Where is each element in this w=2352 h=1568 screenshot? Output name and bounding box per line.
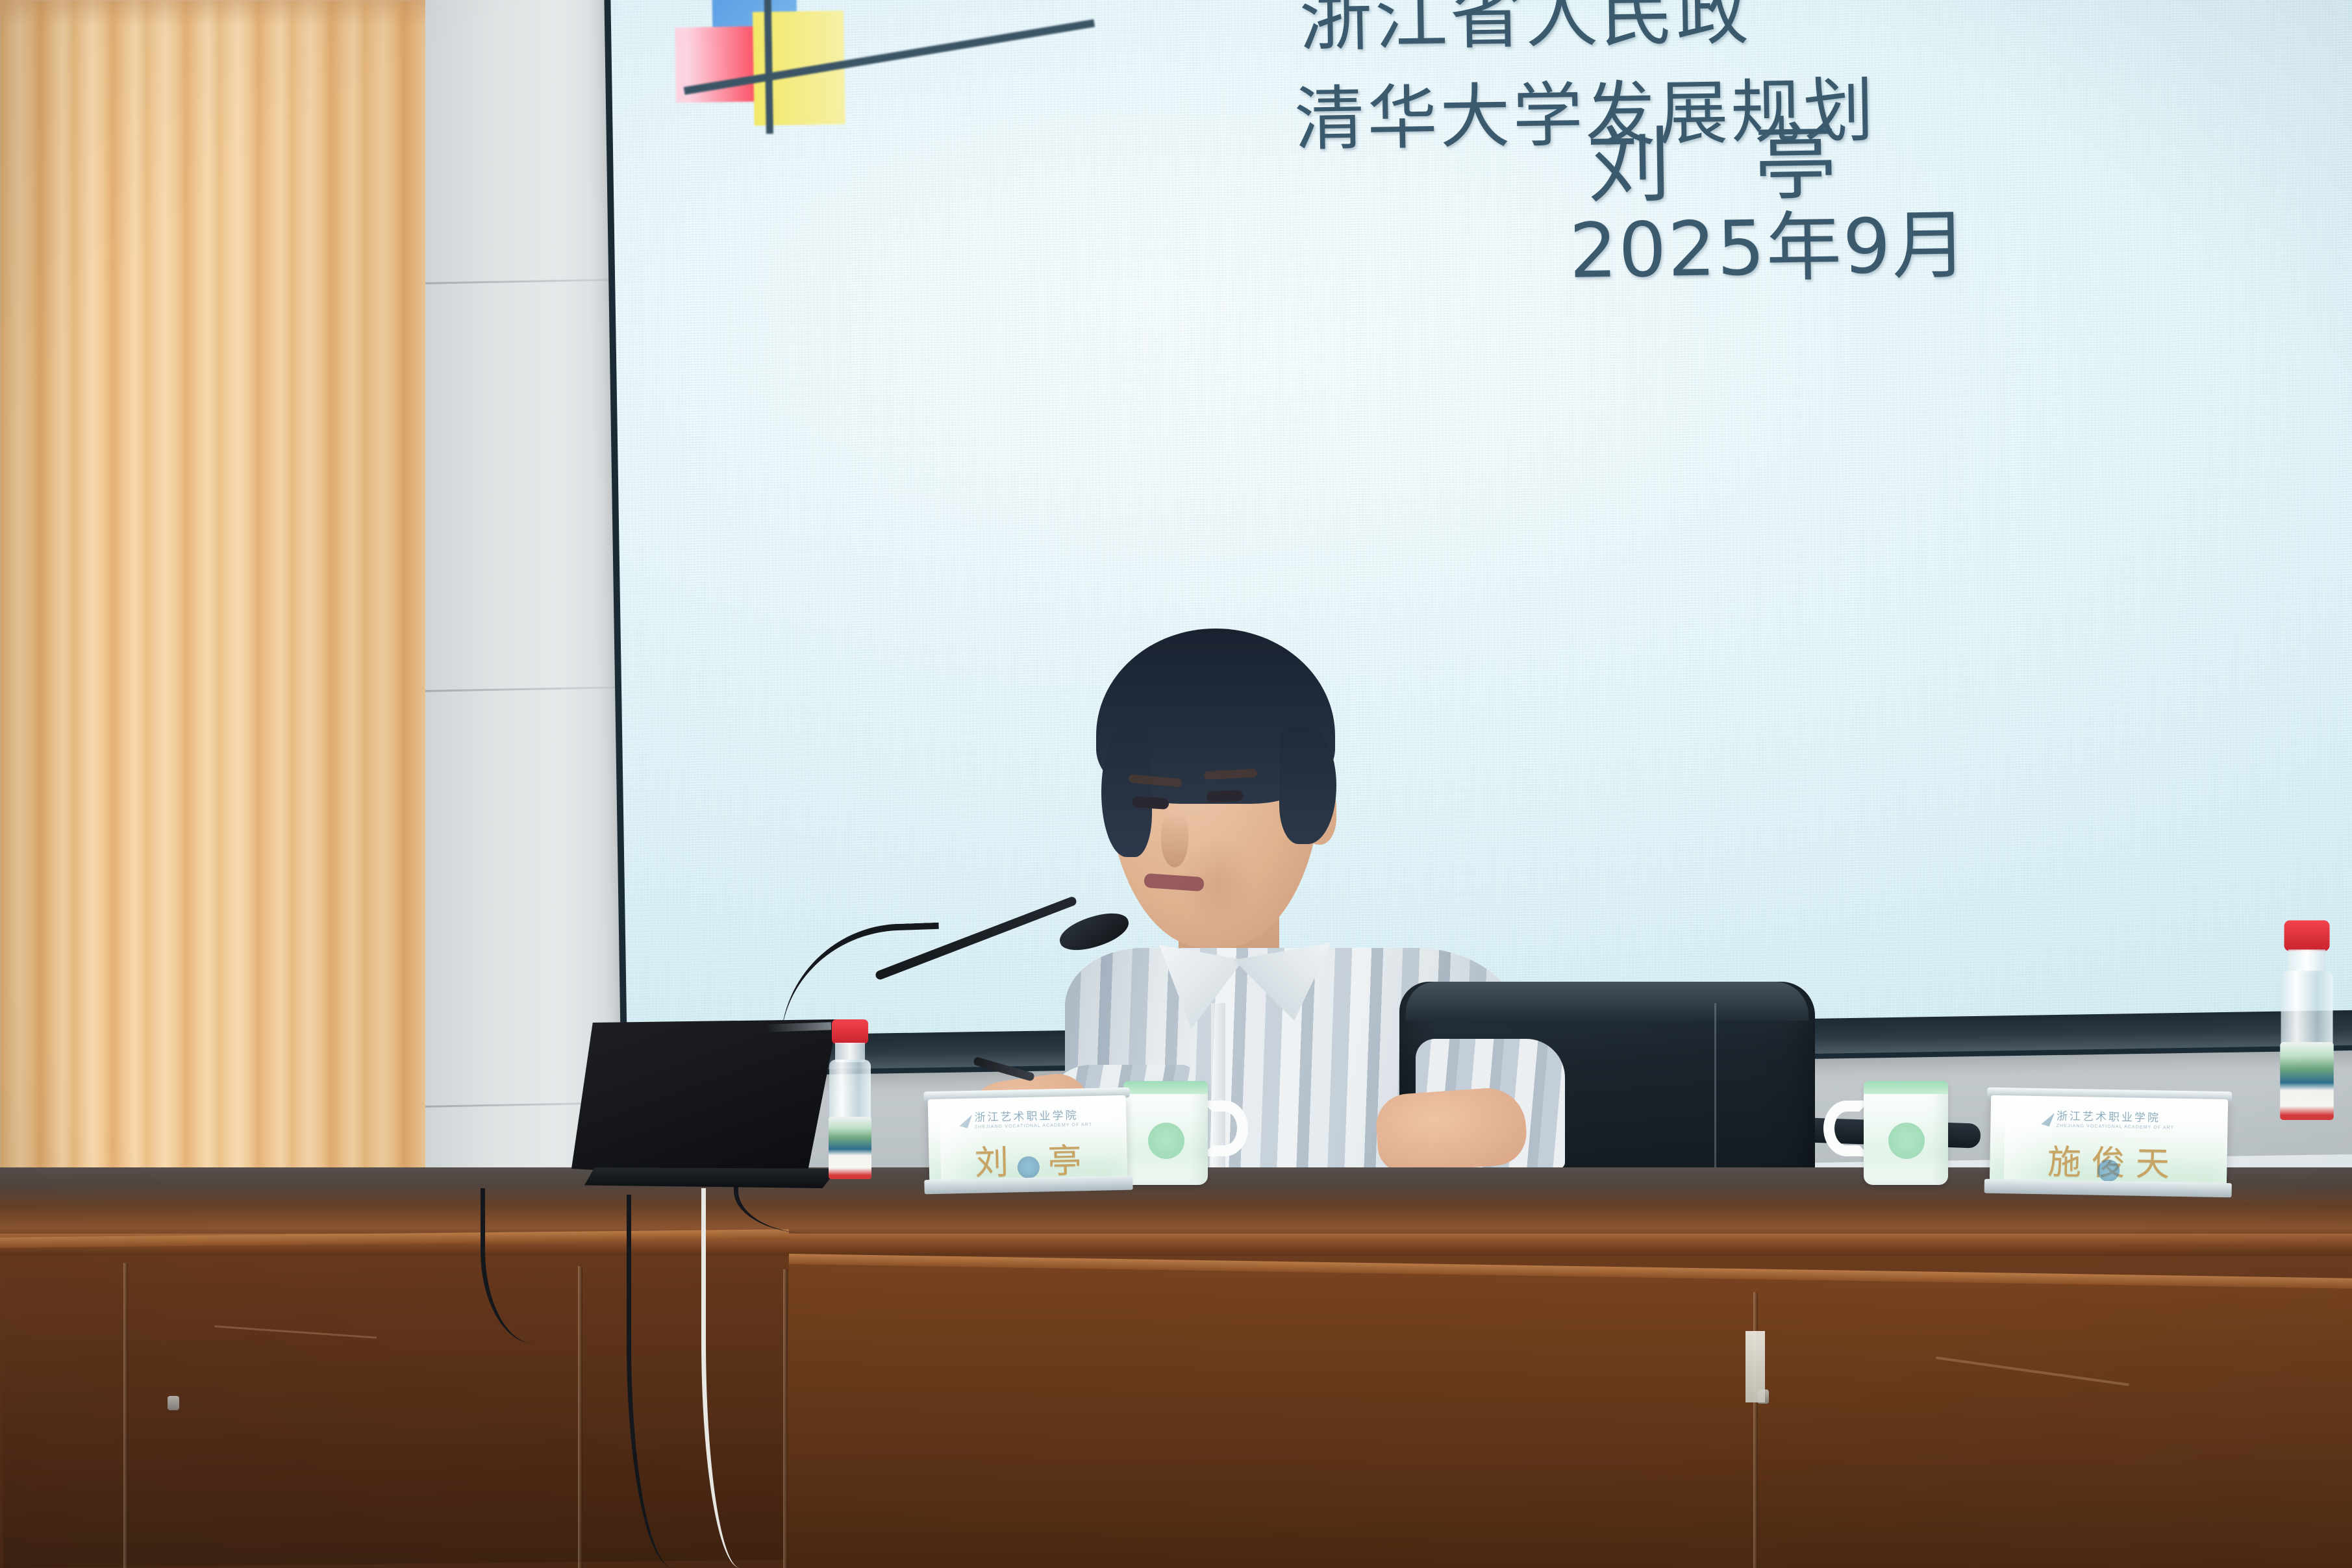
name-placard-shi-juntian: 浙江艺术职业学院 ZHEJIANG VOCATIONAL ACADEMY OF … <box>1990 1095 2228 1187</box>
table-panel-seam <box>578 1266 582 1568</box>
mug-right[interactable] <box>1864 1081 1994 1188</box>
hair-side-right <box>1279 727 1336 844</box>
laptop-base <box>584 1167 838 1188</box>
mug-logo-icon <box>1148 1123 1184 1159</box>
slide-org-line-1: 浙江省人民政 <box>1299 0 1752 66</box>
placard-org-cn: 浙江艺术职业学院 <box>974 1110 1092 1123</box>
bottle-label <box>829 1117 871 1179</box>
table-cable-label <box>1745 1331 1765 1402</box>
curtain-valance <box>0 0 429 26</box>
mug-body <box>1123 1081 1208 1185</box>
photo-scene: 浙江省人民政 清华大学发展规划 刘 亭 2025年9月 <box>0 0 2352 1568</box>
placard-academy-logo: 浙江艺术职业学院 ZHEJIANG VOCATIONAL ACADEMY OF … <box>2044 1110 2175 1130</box>
chair-stitching <box>1714 1003 1716 1191</box>
hair-side-left <box>1101 727 1152 857</box>
right-hand <box>1374 1086 1529 1174</box>
water-bottle-left[interactable] <box>828 1019 872 1182</box>
laptop-highlight <box>766 1022 831 1032</box>
bottle-label <box>2280 1042 2334 1120</box>
table-fastener <box>168 1396 179 1410</box>
mug-body <box>1864 1081 1948 1185</box>
mug-handle <box>1201 1101 1248 1156</box>
eye-right <box>1207 790 1244 803</box>
bottle-cap <box>2284 921 2330 952</box>
placard-academy-logo: 浙江艺术职业学院 ZHEJIANG VOCATIONAL ACADEMY OF … <box>962 1110 1092 1130</box>
mug-left[interactable] <box>1123 1081 1253 1188</box>
laptop[interactable] <box>571 1019 838 1201</box>
name-placard-liu-ting: 浙江艺术职业学院 ZHEJIANG VOCATIONAL ACADEMY OF … <box>928 1095 1128 1184</box>
curtain-shading <box>0 0 429 1191</box>
slide-date: 2025年9月 <box>1568 184 1970 299</box>
mug-logo-icon <box>1888 1123 1925 1159</box>
laptop-lid <box>571 1019 838 1182</box>
mug-rim <box>1123 1081 1208 1094</box>
chair-headrest <box>1406 982 1808 1021</box>
placard-glare <box>940 1099 981 1184</box>
bottle-cap <box>832 1019 868 1044</box>
mug-rim <box>1864 1081 1948 1094</box>
nose <box>1161 812 1188 867</box>
placard-org-cn: 浙江艺术职业学院 <box>2057 1110 2175 1123</box>
table-panel-seam <box>123 1263 128 1568</box>
table-panel-seam <box>783 1269 788 1568</box>
water-bottle-right[interactable] <box>2279 921 2352 1189</box>
table-front-panel-right <box>784 1260 2352 1568</box>
placard-glare <box>2004 1095 2053 1184</box>
